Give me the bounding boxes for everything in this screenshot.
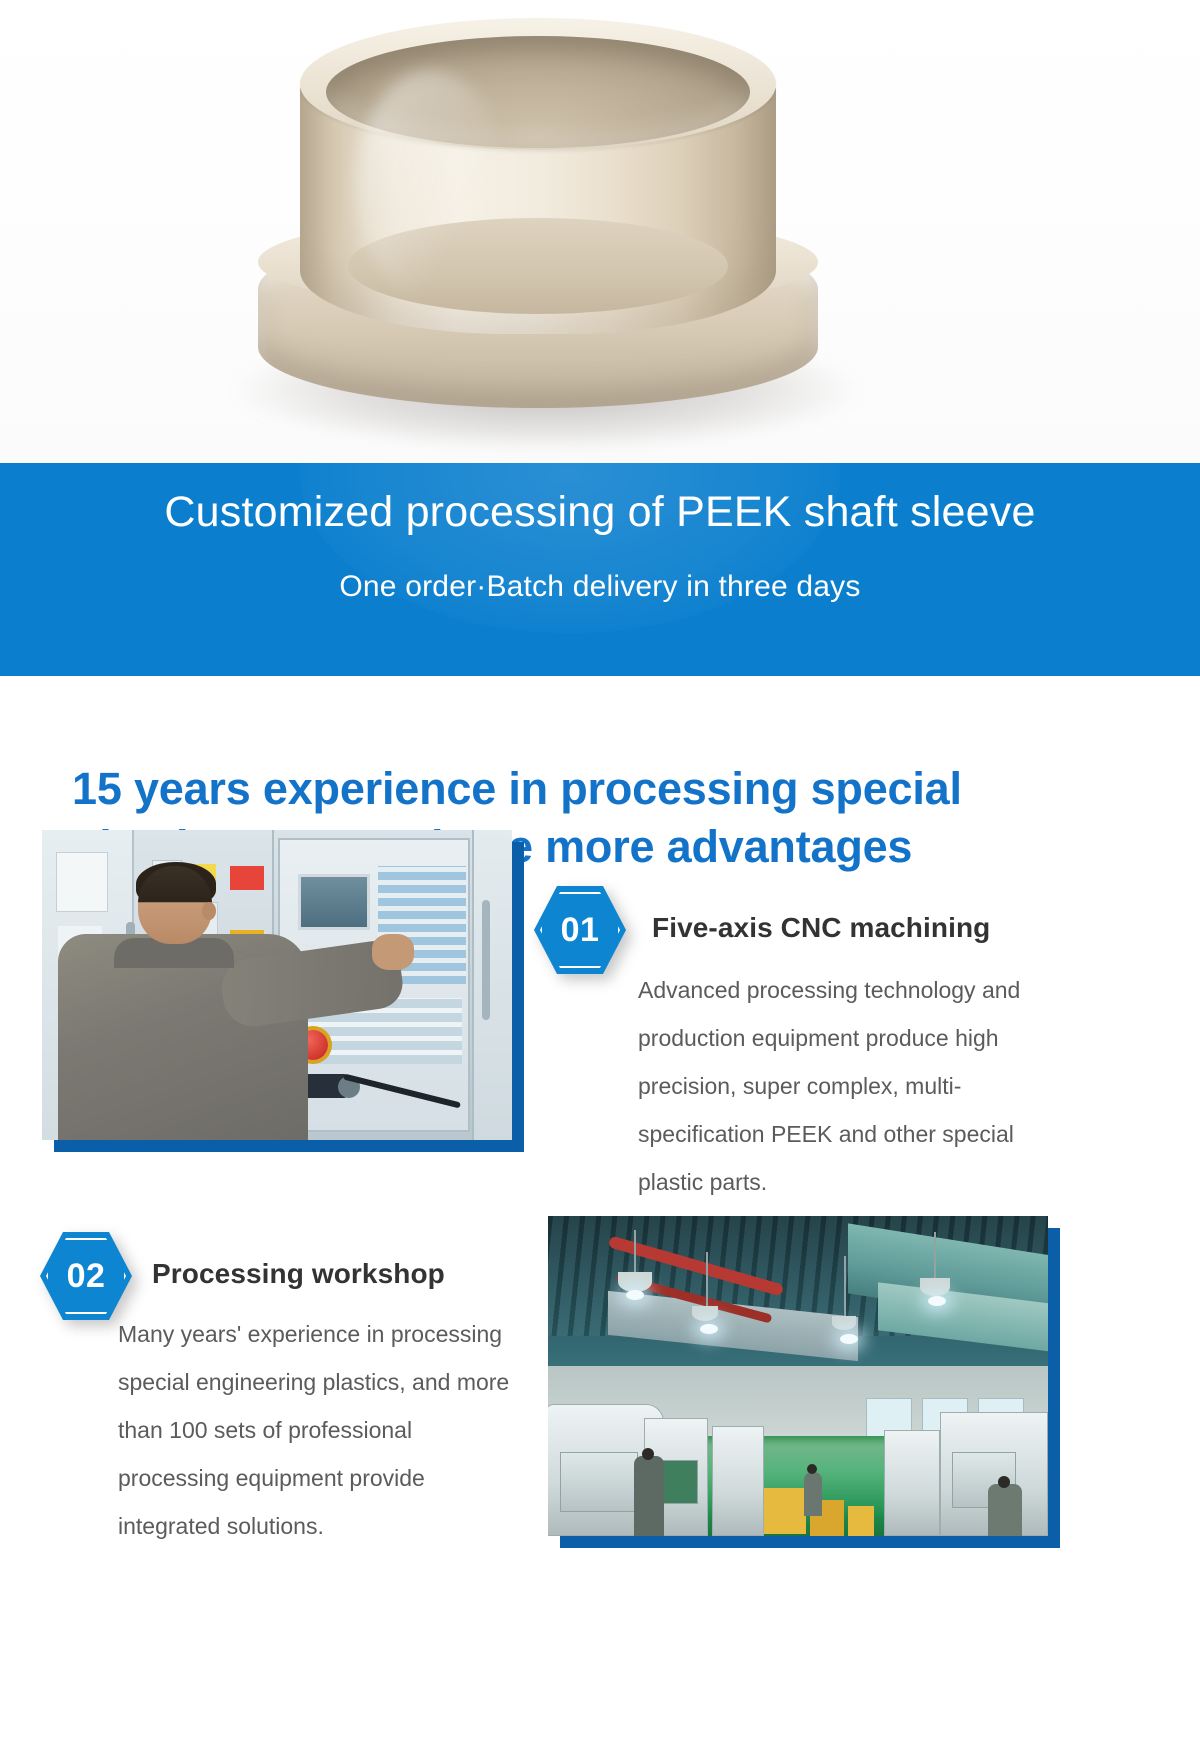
feature-02-body: Many years' experience in processing spe…	[118, 1310, 528, 1550]
product-photo	[0, 0, 1200, 464]
feature-01-badge: 01	[534, 886, 626, 974]
feature-02-image	[548, 1216, 1048, 1536]
feature-01-title: Five-axis CNC machining	[652, 912, 990, 944]
product-highlight	[356, 70, 506, 300]
feature-01-number: 01	[534, 886, 626, 974]
feature-01-body: Advanced processing technology and produ…	[638, 966, 1068, 1206]
banner-title: Customized processing of PEEK shaft slee…	[0, 487, 1200, 539]
feature-01-photo	[42, 830, 512, 1140]
hero-product-image	[0, 0, 1200, 464]
headline-line-1: 15 years experience in processing specia…	[72, 760, 1132, 818]
hero-banner: Customized processing of PEEK shaft slee…	[0, 463, 1200, 676]
feature-02-badge: 02	[40, 1232, 132, 1320]
feature-02-number: 02	[40, 1232, 132, 1320]
feature-01-image	[42, 830, 512, 1140]
feature-02-photo	[548, 1216, 1048, 1536]
feature-02-title: Processing workshop	[152, 1258, 445, 1290]
banner-subtitle: One order·Batch delivery in three days	[0, 567, 1200, 606]
product-detail-page: Customized processing of PEEK shaft slee…	[0, 0, 1200, 1760]
